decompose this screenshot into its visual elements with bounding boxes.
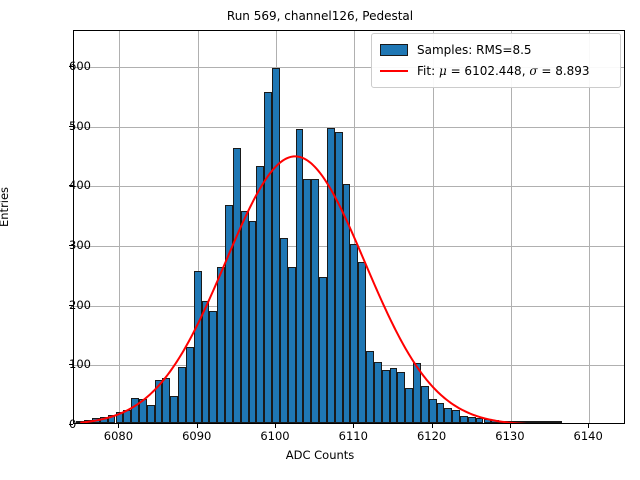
- x-tick-label-6110: 6110: [339, 429, 368, 443]
- x-tick-label-6080: 6080: [104, 429, 133, 443]
- legend-label-fit: Fit: μ = 6102.448, σ = 8.893: [417, 64, 590, 78]
- x-tick-label-6090: 6090: [182, 429, 211, 443]
- x-tick-mark-6080: [118, 424, 119, 428]
- x-tick-mark-6140: [588, 424, 589, 428]
- legend-fit-mu-value: = 6102.448,: [447, 64, 530, 78]
- legend-fit-prefix: Fit:: [417, 64, 439, 78]
- x-tick-mark-6110: [353, 424, 354, 428]
- legend-swatch-samples-icon: [380, 44, 408, 56]
- chart-title: Run 569, channel126, Pedestal: [0, 9, 640, 23]
- legend-label-samples: Samples: RMS=8.5: [417, 43, 532, 57]
- x-tick-label-6130: 6130: [495, 429, 524, 443]
- chart-legend: Samples: RMS=8.5 Fit: μ = 6102.448, σ = …: [371, 33, 621, 88]
- legend-swatch-fit-icon: [380, 70, 408, 72]
- gaussian-fit-curve: [74, 31, 625, 424]
- x-tick-mark-6130: [510, 424, 511, 428]
- legend-entry-fit: Fit: μ = 6102.448, σ = 8.893: [380, 60, 612, 81]
- legend-entry-samples: Samples: RMS=8.5: [380, 39, 612, 60]
- x-tick-label-6140: 6140: [574, 429, 603, 443]
- x-tick-mark-6100: [275, 424, 276, 428]
- fit-path: [80, 156, 565, 424]
- x-tick-label-6120: 6120: [417, 429, 446, 443]
- legend-fit-sigma-value: = 8.893: [538, 64, 590, 78]
- legend-fit-mu-symbol: μ: [439, 64, 447, 78]
- legend-fit-sigma-symbol: σ: [529, 64, 537, 78]
- x-tick-mark-6090: [197, 424, 198, 428]
- x-axis-label: ADC Counts: [0, 448, 640, 462]
- plot-area: [73, 30, 625, 424]
- x-tick-label-6100: 6100: [260, 429, 289, 443]
- y-axis-label: Entries: [0, 187, 11, 227]
- x-tick-mark-6120: [432, 424, 433, 428]
- figure-canvas: Run 569, channel126, Pedestal 6080609061…: [0, 0, 640, 480]
